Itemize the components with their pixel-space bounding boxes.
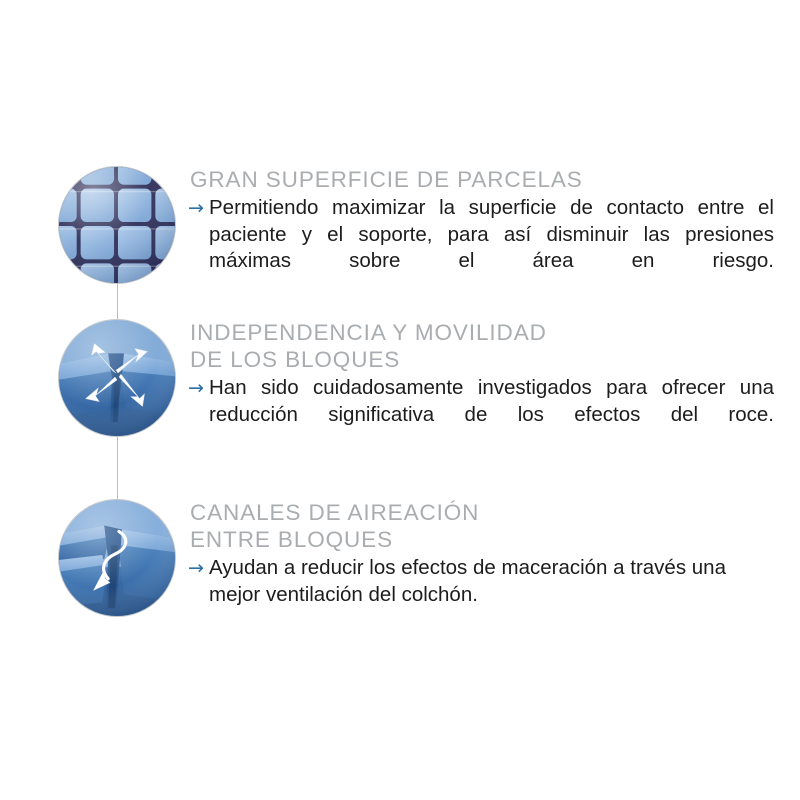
feature-body-2: Han sido cuidadosamente investigados par…: [209, 375, 774, 455]
infographic-page: GRAN SUPERFICIE DE PARCELAS → Permitiend…: [0, 0, 800, 800]
feature-icon-2-wrap: [58, 319, 176, 437]
feature-text-3: CANALES DE AIREACIÓN ENTRE BLOQUES → Ayu…: [188, 499, 774, 635]
arrow-right-icon: →: [188, 195, 208, 222]
feature-title-1: GRAN SUPERFICIE DE PARCELAS: [190, 166, 774, 193]
feature-icon-1-wrap: [58, 166, 176, 284]
feature-body-row-2: → Han sido cuidadosamente investigados p…: [188, 375, 774, 455]
feature-text-2: INDEPENDENCIA Y MOVILIDAD DE LOS BLOQUES…: [188, 319, 774, 455]
feature-body-row-1: → Permitiendo maximizar la superficie de…: [188, 195, 774, 301]
feature-text-1: GRAN SUPERFICIE DE PARCELAS → Permitiend…: [188, 166, 774, 301]
feature-title-2: INDEPENDENCIA Y MOVILIDAD DE LOS BLOQUES: [190, 319, 774, 373]
foam-blocks-multidirectional-arrows-photo-icon: [58, 319, 176, 437]
arrow-right-icon: →: [188, 375, 208, 402]
foam-grid-cells-photo-icon: [58, 166, 176, 284]
connector-line-2: [117, 437, 118, 499]
feature-icon-3-wrap: [58, 499, 176, 617]
feature-body-3: Ayudan a reducir los efectos de maceraci…: [209, 555, 774, 635]
foam-blocks-airflow-channel-photo-icon: [58, 499, 176, 617]
feature-body-1: Permitiendo maximizar la superficie de c…: [209, 195, 774, 301]
feature-title-3: CANALES DE AIREACIÓN ENTRE BLOQUES: [190, 499, 774, 553]
feature-body-row-3: → Ayudan a reducir los efectos de macera…: [188, 555, 774, 635]
arrow-right-icon: →: [188, 555, 208, 582]
